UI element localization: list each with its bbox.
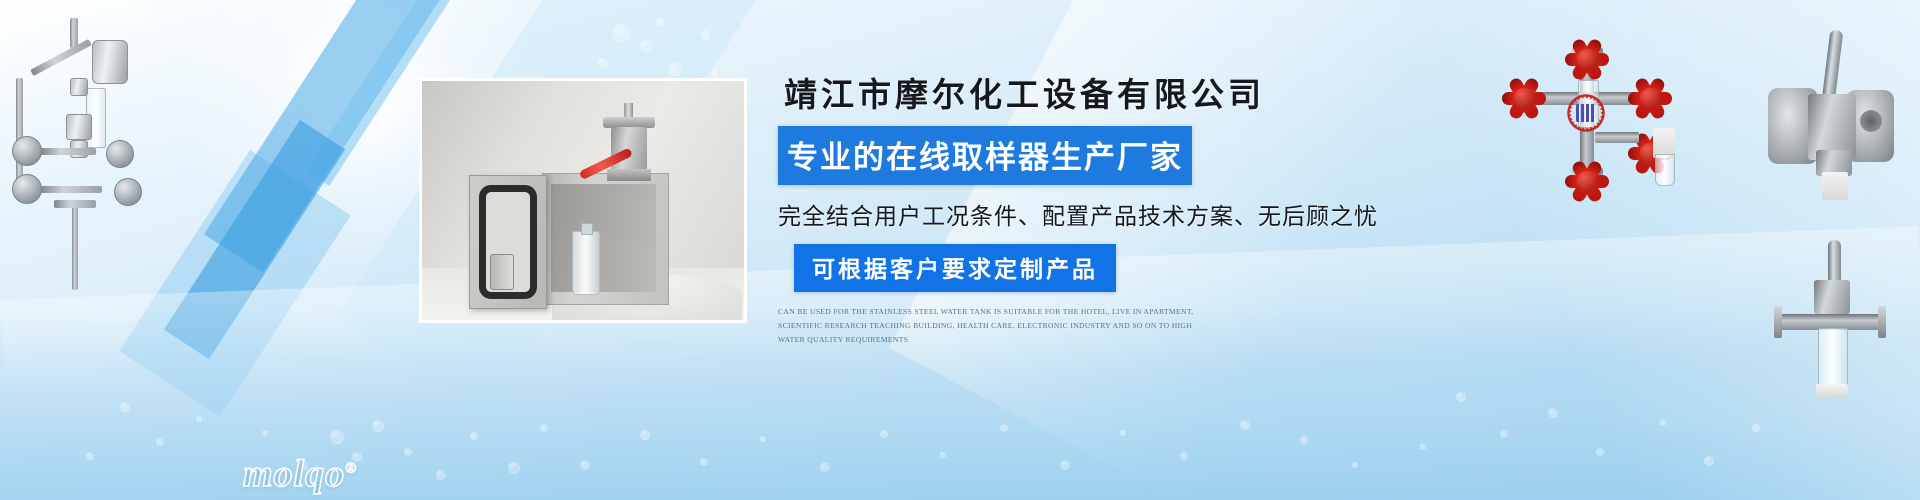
english-description: CAN BE USED FOR THE STAINLESS STEEL WATE…	[778, 305, 1198, 347]
cross-manifold-render	[1505, 40, 1705, 200]
water-droplet	[120, 402, 130, 412]
water-droplet	[712, 70, 718, 76]
sun-ray	[308, 0, 411, 150]
subheadline: 完全结合用户工况条件、配置产品技术方案、无后顾之忧	[778, 197, 1398, 231]
sun-ray	[284, 0, 435, 157]
water-droplet	[1548, 408, 1558, 418]
water-droplet	[1060, 460, 1070, 470]
sun-ray	[284, 58, 437, 82]
water-droplet	[1420, 444, 1426, 450]
water-droplet	[656, 18, 664, 26]
water-droplet	[1000, 424, 1008, 432]
water-droplet	[1704, 456, 1714, 466]
water-droplet	[700, 458, 708, 466]
product-photo	[419, 78, 747, 323]
water-droplet	[436, 470, 446, 480]
water-droplet	[1120, 430, 1126, 436]
marketing-copy: 靖江市摩尔化工设备有限公司 专业的在线取样器生产厂家 完全结合用户工况条件、配置…	[778, 76, 1398, 347]
water-droplet	[940, 452, 946, 458]
water-droplet	[1660, 420, 1666, 426]
water-droplet	[1456, 392, 1466, 402]
quality-seal-watermark	[1565, 92, 1607, 134]
sun-ray	[317, 4, 403, 136]
headline-highlight: 专业的在线取样器生产厂家	[778, 126, 1192, 185]
cabinet-door	[469, 175, 547, 309]
sun-ray	[287, 6, 433, 133]
sun-ray	[286, 0, 435, 156]
water-droplet	[156, 438, 164, 446]
sampler-cabinet	[542, 173, 669, 305]
water-droplet	[196, 416, 202, 422]
sample-bottle	[572, 231, 600, 295]
door-latch	[490, 254, 514, 290]
sun-ray	[302, 19, 418, 120]
water-droplet	[1300, 436, 1308, 444]
left-equipment-render	[10, 18, 160, 308]
water-droplet	[330, 430, 344, 444]
sun-ray	[247, 69, 474, 71]
sun-ray	[327, 0, 392, 178]
sampling-valve-head	[597, 103, 659, 181]
sun-ray	[327, 0, 394, 181]
water-droplet	[1180, 452, 1188, 460]
sun-ray	[328, 1, 393, 139]
water-droplet	[880, 430, 888, 438]
water-droplet	[540, 424, 548, 432]
water-droplet	[262, 430, 268, 436]
water-droplet	[1500, 430, 1508, 438]
promotional-banner: 靖江市摩尔化工设备有限公司 专业的在线取样器生产厂家 完全结合用户工况条件、配置…	[0, 0, 1920, 500]
lever-valve-render	[1760, 30, 1900, 200]
water-droplet	[640, 430, 650, 440]
cabinet-interior	[551, 184, 656, 292]
water-droplet	[700, 30, 710, 40]
company-name: 靖江市摩尔化工设备有限公司	[784, 76, 1398, 117]
sun-ray	[280, 18, 440, 122]
registered-mark: ®	[345, 460, 357, 476]
valve-base	[607, 169, 651, 181]
water-droplet	[598, 58, 608, 68]
sun-ray	[359, 0, 361, 145]
brand-logo: molqo®	[243, 452, 357, 496]
water-droplet	[640, 40, 652, 52]
water-droplet	[372, 420, 384, 432]
water-droplet	[1352, 462, 1358, 468]
water-droplet	[760, 436, 766, 442]
water-droplet	[404, 448, 412, 456]
sun-ray	[348, 0, 372, 148]
water-droplet	[612, 24, 630, 42]
inline-valve-render	[1770, 240, 1900, 400]
water-droplet	[1240, 420, 1250, 430]
water-droplet	[580, 460, 590, 470]
water-droplet	[1752, 424, 1760, 432]
logo-wordmark: molqo	[243, 453, 345, 495]
water-droplet	[1596, 448, 1604, 456]
custom-order-badge: 可根据客户要求定制产品	[794, 244, 1116, 292]
water-droplet	[508, 462, 520, 474]
sun-ray	[346, 0, 375, 163]
water-droplet	[470, 432, 478, 440]
sun-ray	[294, 27, 425, 112]
water-droplet	[668, 62, 682, 76]
water-droplet	[86, 452, 94, 460]
water-droplet	[820, 462, 830, 472]
sun-ray	[286, 47, 433, 92]
sun-ray	[319, 0, 401, 158]
